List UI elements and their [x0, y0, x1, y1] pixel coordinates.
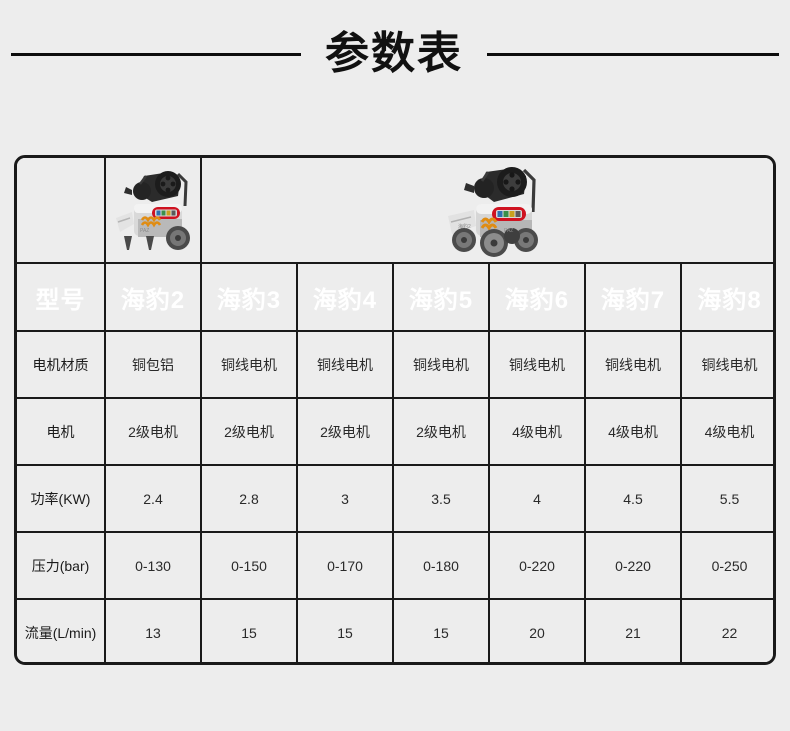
table-cell: 0-250: [681, 532, 776, 599]
table-cell: 13: [105, 599, 201, 665]
table-cell: 15: [201, 599, 297, 665]
product-image-row: PAZ: [17, 158, 776, 263]
title-rule-right: [487, 53, 779, 56]
model-header-cell-2: 海豹3: [201, 263, 297, 331]
table-cell: 5.5: [681, 465, 776, 532]
table-cell: 2级电机: [393, 398, 489, 465]
table-cell: 22: [681, 599, 776, 665]
table-cell: 15: [297, 599, 393, 665]
table-cell: 铜线电机: [585, 331, 681, 398]
model-header-cell-5: 海豹6: [489, 263, 585, 331]
svg-text:PAZ: PAZ: [140, 228, 149, 234]
pressure-washer-4-wheel-photo: 海豹2: [438, 160, 568, 260]
product-image-cell-small: PAZ: [105, 158, 201, 263]
table-cell: 铜线电机: [393, 331, 489, 398]
model-header-label: 型号: [17, 263, 105, 331]
table-cell: 21: [585, 599, 681, 665]
row-label: 功率(KW): [17, 465, 105, 532]
table-row: 流量(L/min) 13 15 15 15 20 21 22: [17, 599, 776, 665]
table-cell: 20: [489, 599, 585, 665]
table-cell: 铜线电机: [201, 331, 297, 398]
table-cell: 15: [393, 599, 489, 665]
table-cell: 2级电机: [201, 398, 297, 465]
table-cell: 0-220: [585, 532, 681, 599]
spec-table-container: PAZ: [14, 155, 776, 665]
product-image-cell-large: 海豹2: [201, 158, 776, 263]
model-header-cell-7: 海豹8: [681, 263, 776, 331]
page-title: 参数表: [301, 32, 487, 76]
table-cell: 0-150: [201, 532, 297, 599]
table-cell: 4: [489, 465, 585, 532]
table-cell: 4级电机: [585, 398, 681, 465]
spec-table: PAZ: [17, 158, 776, 665]
table-cell: 2.4: [105, 465, 201, 532]
model-header-cell-4: 海豹5: [393, 263, 489, 331]
row-label: 电机材质: [17, 331, 105, 398]
row-label: 电机: [17, 398, 105, 465]
page-title-block: 参数表: [0, 18, 790, 90]
table-cell: 铜线电机: [297, 331, 393, 398]
table-cell: 铜线电机: [681, 331, 776, 398]
model-header-cell-1: 海豹2: [105, 263, 201, 331]
model-header-cell-6: 海豹7: [585, 263, 681, 331]
table-cell: 0-220: [489, 532, 585, 599]
image-row-blank-cell: [17, 158, 105, 263]
svg-text:PAZ: PAZ: [504, 228, 513, 234]
model-header-row: 型号 海豹2 海豹3 海豹4 海豹5 海豹6 海豹7 海豹8: [17, 263, 776, 331]
table-row: 电机材质 铜包铝 铜线电机 铜线电机 铜线电机 铜线电机 铜线电机 铜线电机: [17, 331, 776, 398]
table-cell: 0-170: [297, 532, 393, 599]
table-cell: 2.8: [201, 465, 297, 532]
table-cell: 0-180: [393, 532, 489, 599]
table-cell: 0-130: [105, 532, 201, 599]
table-cell: 4级电机: [489, 398, 585, 465]
table-cell: 2级电机: [297, 398, 393, 465]
table-cell: 铜线电机: [489, 331, 585, 398]
model-header-cell-3: 海豹4: [297, 263, 393, 331]
table-cell: 4.5: [585, 465, 681, 532]
parameter-table-page: 参数表: [0, 0, 790, 731]
table-row: 电机 2级电机 2级电机 2级电机 2级电机 4级电机 4级电机 4级电机: [17, 398, 776, 465]
table-cell: 4级电机: [681, 398, 776, 465]
row-label: 压力(bar): [17, 532, 105, 599]
table-cell: 2级电机: [105, 398, 201, 465]
table-row: 压力(bar) 0-130 0-150 0-170 0-180 0-220 0-…: [17, 532, 776, 599]
pressure-washer-2-wheel-photo: PAZ: [108, 162, 200, 258]
table-cell: 3: [297, 465, 393, 532]
table-cell: 3.5: [393, 465, 489, 532]
title-rule-left: [11, 53, 301, 56]
table-row: 功率(KW) 2.4 2.8 3 3.5 4 4.5 5.5: [17, 465, 776, 532]
table-cell: 铜包铝: [105, 331, 201, 398]
row-label: 流量(L/min): [17, 599, 105, 665]
